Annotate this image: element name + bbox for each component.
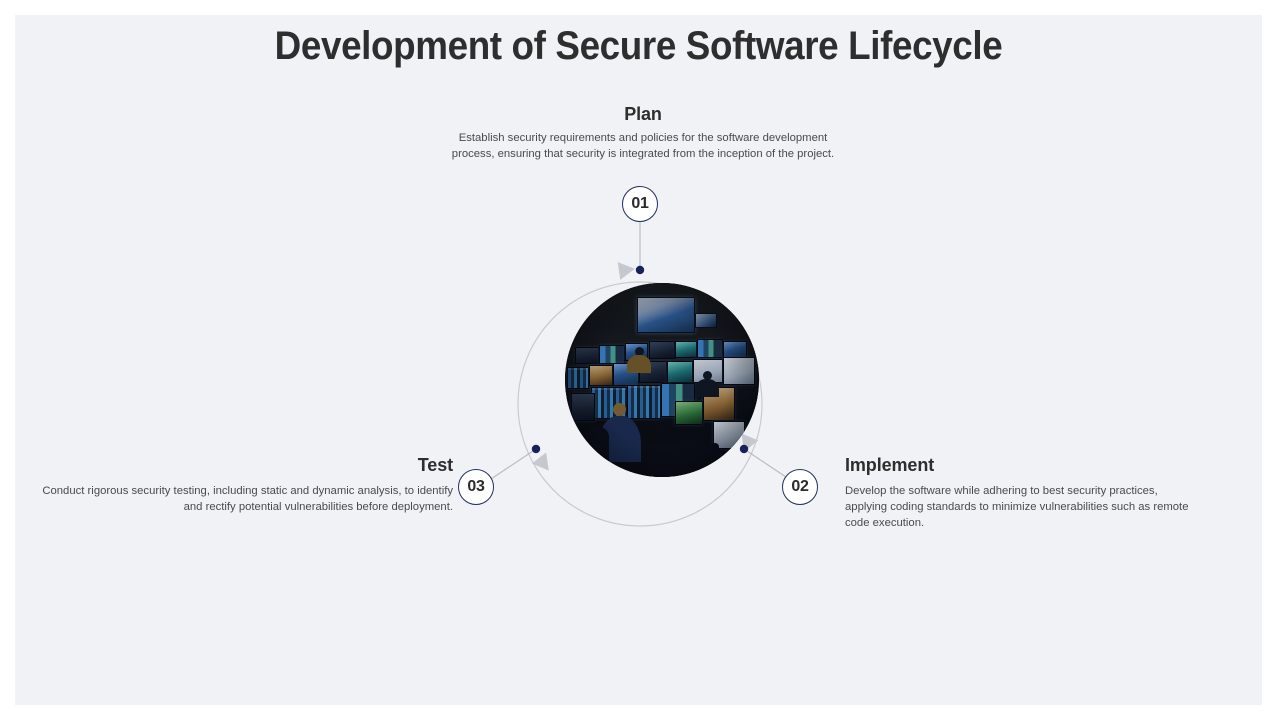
cycle-arrow-top [618, 260, 636, 280]
node-dot-01 [636, 266, 644, 274]
slide-canvas: Development of Secure Software Lifecycle [15, 15, 1262, 705]
step-number-01-label: 01 [631, 195, 648, 213]
step-number-02-label: 02 [791, 478, 808, 496]
step-number-01[interactable]: 01 [622, 186, 658, 222]
step-heading-test: Test [33, 455, 453, 476]
cycle-diagram: 01 02 03 Plan Establish security require… [15, 15, 1262, 705]
center-image [565, 283, 759, 477]
node-dot-03 [532, 445, 540, 453]
step-heading-implement: Implement [845, 455, 1190, 476]
step-number-02[interactable]: 02 [782, 469, 818, 505]
step-body-implement: Develop the software while adhering to b… [845, 483, 1190, 531]
step-heading-plan: Plan [443, 104, 843, 125]
cycle-arrow-left [532, 452, 556, 476]
step-block-implement: Implement Develop the software while adh… [845, 455, 1190, 531]
step-block-plan: Plan Establish security requirements and… [443, 104, 843, 162]
photo-vignette [565, 283, 759, 477]
step-block-test: Test Conduct rigorous security testing, … [33, 455, 453, 515]
step-number-03-label: 03 [467, 478, 484, 496]
step-body-plan: Establish security requirements and poli… [443, 130, 843, 162]
step-number-03[interactable]: 03 [458, 469, 494, 505]
step-body-test: Conduct rigorous security testing, inclu… [33, 483, 453, 515]
